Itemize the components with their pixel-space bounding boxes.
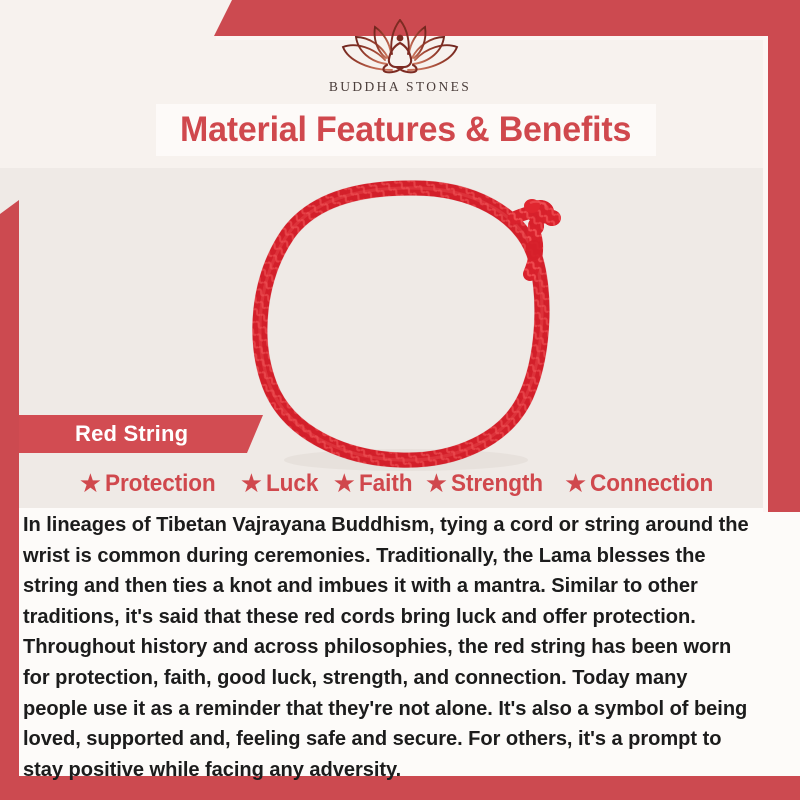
star-icon: ★ (564, 470, 587, 496)
benefit-label: Protection (105, 470, 216, 498)
benefits-list: ★ Protection ★ Luck ★ Faith ★ Strength ★… (19, 466, 781, 502)
star-icon: ★ (425, 470, 448, 496)
benefit-label: Connection (590, 470, 713, 498)
brand-name: BUDDHA STONES (329, 79, 471, 95)
benefit-item-faith: ★ Faith (333, 470, 416, 498)
product-label-banner: Red String (19, 415, 263, 453)
page-title-band: Material Features & Benefits (156, 104, 656, 156)
page-title: Material Features & Benefits (180, 110, 631, 150)
description-text: In lineages of Tibetan Vajrayana Buddhis… (23, 510, 756, 785)
star-icon: ★ (79, 470, 102, 496)
brand-logo: BUDDHA STONES (0, 14, 800, 100)
benefit-label: Faith (359, 470, 412, 498)
benefit-item-strength: ★ Strength (425, 470, 549, 498)
infographic-card: BUDDHA STONES Material Features & Benefi… (0, 0, 800, 800)
benefit-label: Luck (266, 470, 318, 498)
frame-left-accent (0, 200, 19, 792)
benefit-item-connection: ★ Connection (564, 470, 721, 498)
benefit-label: Strength (451, 470, 543, 498)
product-image (19, 168, 768, 510)
lotus-meditation-icon (330, 14, 470, 78)
star-icon: ★ (333, 470, 356, 496)
benefit-item-luck: ★ Luck (240, 470, 322, 498)
star-icon: ★ (240, 470, 263, 496)
product-label: Red String (75, 421, 188, 447)
benefit-item-protection: ★ Protection (79, 470, 223, 498)
red-string-bracelet-illustration (214, 170, 594, 490)
